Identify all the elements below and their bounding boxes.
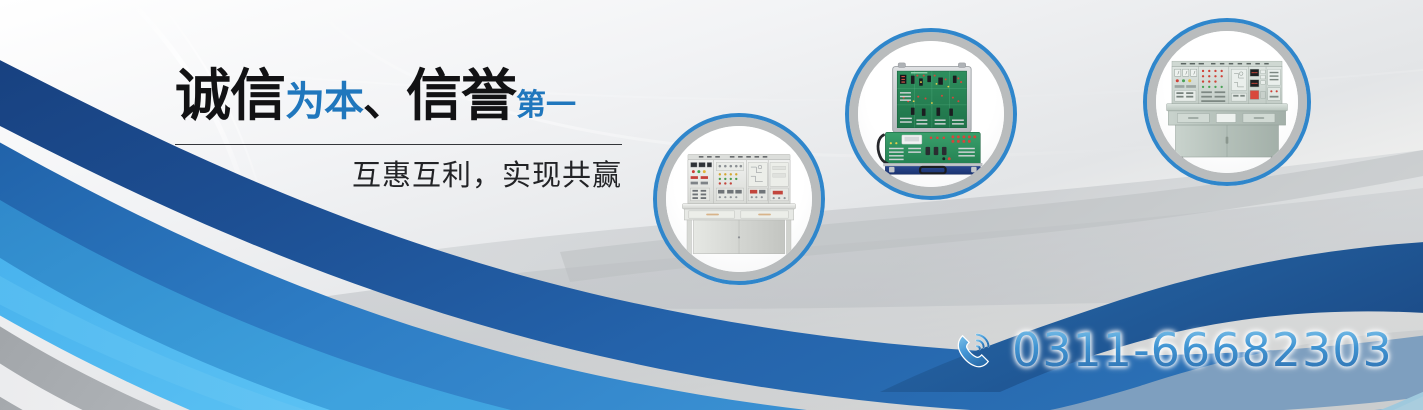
headline-seg-4: 信誉: [406, 64, 516, 129]
page-title: 诚信为本、信誉第一: [175, 66, 635, 137]
headline-seg-3: 、: [363, 75, 406, 126]
headline-seg-2: 为本: [285, 79, 363, 125]
product-medallion-2[interactable]: [845, 28, 1017, 200]
headline-seg-5: 第一: [516, 88, 576, 123]
product-medallion-3[interactable]: [1143, 18, 1311, 186]
product-medallion-1[interactable]: [653, 113, 825, 285]
promo-banner: 诚信为本、信誉第一 互惠互利，实现共赢: [0, 0, 1423, 410]
headline-block: 诚信为本、信誉第一 互惠互利，实现共赢: [175, 66, 635, 193]
phone-icon: [952, 327, 998, 373]
product-photo-motor-test-bench: [1156, 31, 1298, 173]
phone-number[interactable]: 0311-66682303: [1012, 325, 1393, 375]
product-photo-portable-trainer-case: [858, 41, 1004, 187]
contact-block[interactable]: 0311-66682303: [952, 325, 1393, 375]
subtitle: 互惠互利，实现共赢: [175, 145, 622, 193]
product-photo-electrical-workbench: [666, 126, 812, 272]
headline-seg-1: 诚信: [175, 64, 285, 129]
